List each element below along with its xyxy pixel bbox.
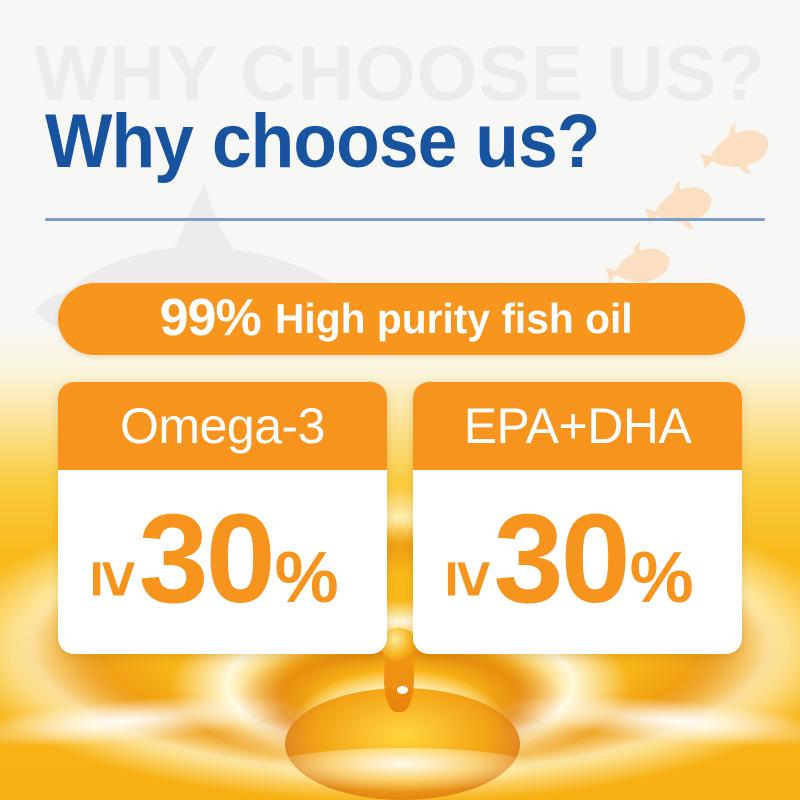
oil-droplet-highlight	[397, 686, 408, 694]
card-value: ≥ 30 %	[461, 496, 693, 622]
card-value-number: 30	[139, 496, 273, 622]
page-title: Why choose us?	[45, 104, 599, 180]
card-title: EPA+DHA	[464, 401, 692, 451]
card-value-unit: %	[275, 542, 339, 614]
greater-equal-icon: ≥	[83, 561, 149, 597]
fish-icon	[639, 173, 720, 240]
spec-card-omega3: Omega-3 ≥ 30 %	[58, 382, 387, 654]
card-header: EPA+DHA	[413, 382, 742, 470]
card-value: ≥ 30 %	[106, 496, 338, 622]
purity-percent: 99%	[160, 292, 261, 344]
greater-equal-icon: ≥	[438, 561, 504, 597]
spec-cards: Omega-3 ≥ 30 % EPA+DHA ≥ 30 %	[58, 382, 742, 654]
purity-banner: 99% High purity fish oil	[58, 283, 745, 355]
promo-poster: WHY CHOOSE US?	[0, 0, 800, 800]
title-divider	[45, 218, 765, 221]
spec-card-epa-dha: EPA+DHA ≥ 30 %	[413, 382, 742, 654]
card-body: ≥ 30 %	[58, 470, 387, 654]
card-value-unit: %	[630, 542, 694, 614]
purity-label: High purity fish oil	[275, 298, 633, 340]
card-value-number: 30	[494, 496, 628, 622]
card-body: ≥ 30 %	[413, 470, 742, 654]
oil-splash	[260, 748, 545, 792]
card-header: Omega-3	[58, 382, 387, 470]
card-title: Omega-3	[120, 401, 325, 451]
